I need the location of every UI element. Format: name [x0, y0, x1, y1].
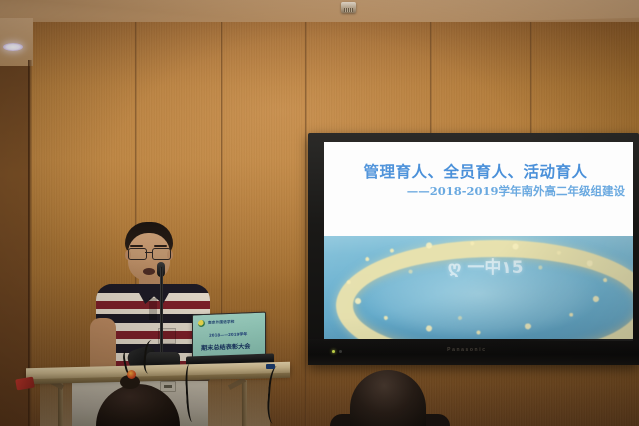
presentation-room-photo: ღ 一中١5 管理育人、全员育人、活动育人 ——2018-2019学年南外高二年… — [0, 0, 639, 426]
speaker-eyebrow-right — [154, 245, 167, 247]
wall-panel-seam — [430, 22, 432, 134]
speaker-mouth — [143, 268, 155, 275]
wall-panel-seam — [305, 22, 307, 426]
display-brand-logo: Panasonic — [447, 347, 486, 353]
slide-photo-caption: ღ 一中١5 — [448, 257, 596, 281]
eyeglass-lens-left — [128, 248, 147, 260]
leaf-speckles — [324, 236, 633, 341]
red-hair-tie-icon — [127, 370, 136, 379]
microphone-gooseneck[interactable] — [160, 267, 163, 357]
display-screen: ღ 一中١5 管理育人、全员育人、活动育人 ——2018-2019学年南外高二年… — [324, 142, 633, 341]
laptop-logo-row: 南京外国语学校 — [198, 319, 235, 327]
power-led-indicator — [332, 350, 335, 353]
eyeglass-bridge — [145, 252, 152, 253]
table-leg-right — [242, 380, 247, 426]
ceiling-soffit — [0, 18, 33, 66]
laptop-line-academic-year: 2018——2019学年 — [209, 331, 247, 338]
slide-title: 管理育人、全员育人、活动育人 — [324, 160, 627, 182]
slide-background-photo: ღ 一中١5 — [324, 236, 633, 341]
recessed-downlight-icon — [3, 43, 23, 51]
power-outlet-icon[interactable] — [160, 381, 176, 392]
school-emblem-icon — [198, 320, 205, 327]
shirt-placket — [149, 298, 157, 320]
presentation-slide: ღ 一中١5 管理育人、全员育人、活动育人 ——2018-2019学年南外高二年… — [324, 142, 633, 341]
laptop-school-name: 南京外国语学校 — [208, 320, 235, 326]
ir-receiver-icon — [339, 350, 342, 353]
eyeglasses-icon — [127, 248, 171, 258]
slide-title-band: 管理育人、全员育人、活动育人 ——2018-2019学年南外高二年级组建设 — [324, 142, 633, 236]
cable-plug — [266, 364, 275, 369]
display-bezel-bottom: Panasonic — [308, 339, 639, 365]
eyeglass-lens-right — [152, 248, 171, 260]
speaker-eyebrow-left — [130, 245, 143, 247]
smoke-detector-icon — [341, 2, 356, 13]
flat-panel-display[interactable]: ღ 一中١5 管理育人、全员育人、活动育人 ——2018-2019学年南外高二年… — [308, 133, 639, 365]
slide-subtitle: ——2018-2019学年南外高二年级组建设 — [407, 183, 625, 199]
laptop-line-event-title: 期末总结表彰大会 — [201, 341, 251, 352]
wall-panel-seam — [530, 22, 532, 134]
